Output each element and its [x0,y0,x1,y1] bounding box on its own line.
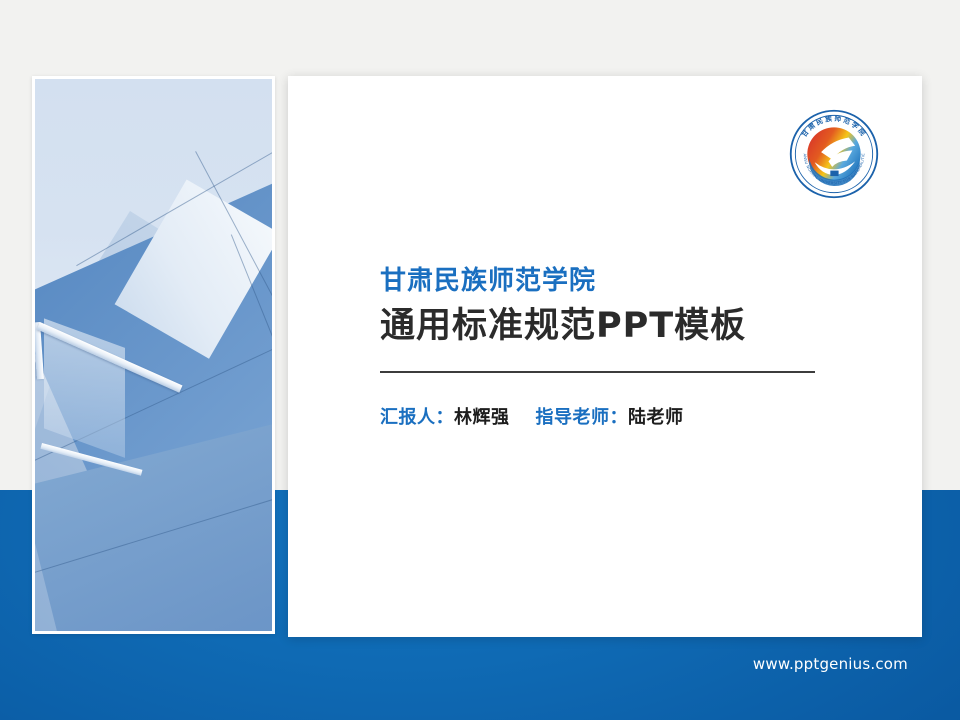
presenter-label: 汇报人： [380,407,454,428]
footer-url: www.pptgenius.com [753,655,908,673]
university-logo-icon: 甘肃民族师范学院 GANSU NORMAL UNIVERSITY FOR NAT… [788,108,880,200]
presenter-value: 林辉强 [454,407,510,428]
left-photo-panel [32,76,275,634]
architecture-photo [35,79,272,631]
title-block: 甘肃民族师范学院 通用标准规范PPT模板 汇报人：林辉强指导老师：陆老师 [380,266,850,429]
advisor-label: 指导老师： [536,407,629,428]
title-divider [380,371,815,373]
advisor-value: 陆老师 [628,407,684,428]
content-card: 甘肃民族师范学院 GANSU NORMAL UNIVERSITY FOR NAT… [288,76,922,637]
presenter-meta-row: 汇报人：林辉强指导老师：陆老师 [380,403,850,429]
institution-title: 甘肃民族师范学院 [380,266,850,297]
slide: www.pptgenius.com [0,0,960,720]
page-title: 通用标准规范PPT模板 [380,305,850,349]
